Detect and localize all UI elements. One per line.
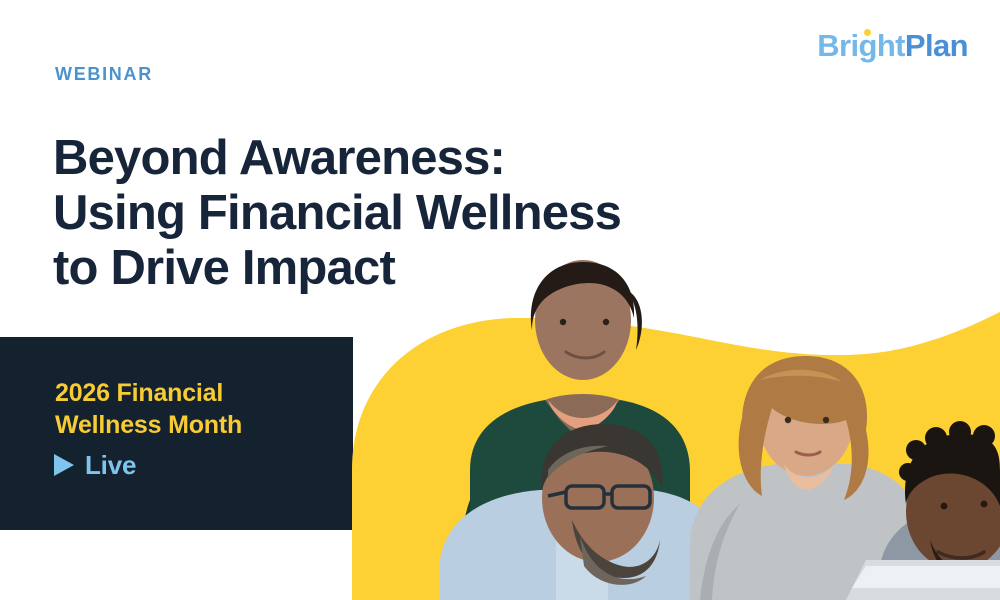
headline-line-2: Using Financial Wellness [53,186,733,241]
logo-plan-text: Plan [905,28,968,63]
logo-bright-text: Bright [817,28,905,63]
webinar-promo-banner: BrightPlan WEBINAR Beyond Awareness: Usi… [0,0,1000,600]
background-blob-overlap [0,0,1000,600]
live-status-badge[interactable]: Live [54,452,136,478]
panel-title-line-1: 2026 Financial [55,378,335,410]
panel-title: 2026 Financial Wellness Month [55,378,335,441]
page-title: Beyond Awareness: Using Financial Wellne… [53,131,733,296]
play-triangle-icon[interactable] [54,454,74,476]
headline-line-1: Beyond Awareness: [53,131,733,186]
panel-title-line-2: Wellness Month [55,410,335,442]
headline-line-3: to Drive Impact [53,241,733,296]
live-label: Live [85,452,136,478]
eyebrow-label: WEBINAR [55,64,153,85]
brand-logo[interactable]: BrightPlan [817,30,968,61]
